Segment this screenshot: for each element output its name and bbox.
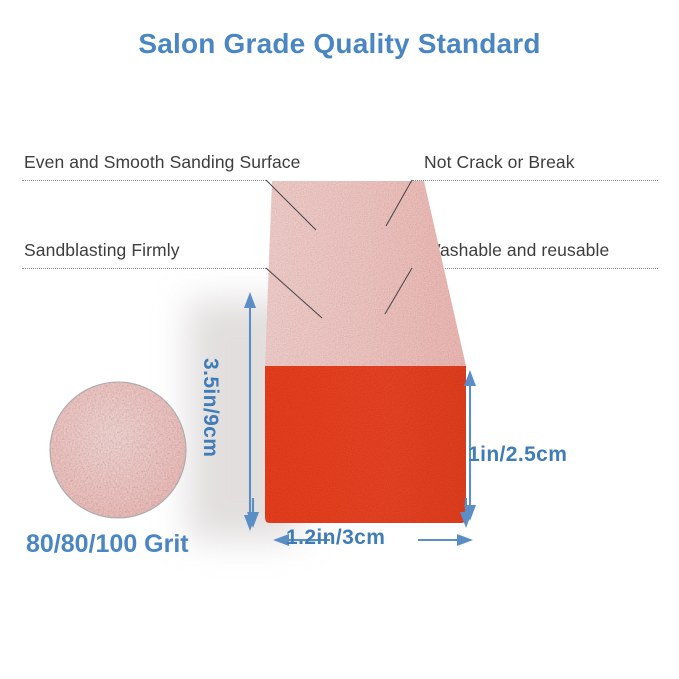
block-front-face [265, 366, 466, 523]
product-illustration [0, 0, 679, 679]
width-dimension-label: 1.2in/3cm [286, 526, 385, 550]
grit-label: 80/80/100 Grit [26, 530, 189, 559]
infographic-canvas: Salon Grade Quality Standard Even and Sm… [0, 0, 679, 679]
depth-dimension-label: 1in/2.5cm [468, 443, 567, 467]
grit-sample-circle [50, 382, 186, 518]
height-dimension-label: 3.5in/9cm [198, 358, 222, 457]
